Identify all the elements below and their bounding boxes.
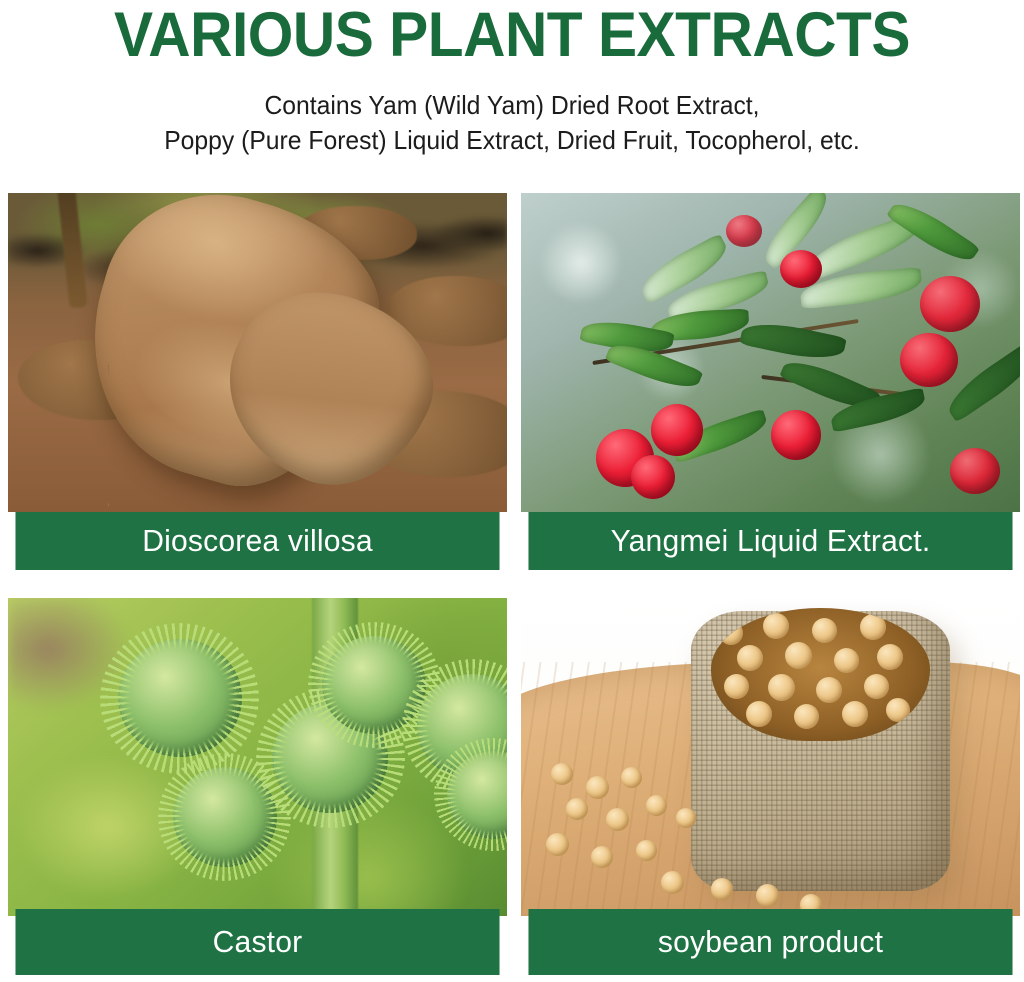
red-bayberry-branch-photo (521, 193, 1020, 512)
plant-extracts-infographic: VARIOUS PLANT EXTRACTS Contains Yam (Wil… (0, 0, 1024, 982)
soybean (719, 621, 743, 645)
spilled-soybean (676, 808, 696, 828)
soybean (785, 642, 812, 669)
spilled-soybean (606, 808, 629, 831)
spilled-soybean (756, 884, 779, 907)
plant-image-grid: Dioscorea villosa (8, 193, 1014, 982)
bayberry-fruit (920, 276, 980, 332)
soybean (763, 613, 789, 639)
root-hairs (108, 365, 318, 505)
soybean (724, 674, 749, 699)
plant-card-dioscorea[interactable]: Dioscorea villosa (8, 193, 507, 570)
plant-card-castor[interactable]: Castor (8, 598, 507, 975)
soybean (746, 701, 772, 727)
soybean (768, 674, 795, 701)
spilled-soybean (621, 767, 642, 788)
pod-spines (100, 623, 259, 774)
soybean-burlap-sack-photo (521, 598, 1020, 916)
soybean (864, 674, 889, 699)
card-caption: Dioscorea villosa (15, 512, 499, 570)
spilled-soybean (591, 846, 613, 868)
castor-bean-pods-photo (8, 598, 507, 916)
soybean (812, 618, 837, 643)
spilled-soybean (586, 776, 609, 799)
yam-root-in-soil-photo (8, 193, 507, 512)
bayberry-fruit (950, 448, 1000, 494)
spilled-soybean (636, 840, 657, 861)
bayberry-fruit (631, 455, 675, 499)
bayberry-fruit (771, 410, 821, 460)
header: VARIOUS PLANT EXTRACTS Contains Yam (Wil… (0, 0, 1024, 158)
spilled-soybean (646, 795, 667, 816)
card-caption: soybean product (528, 909, 1012, 975)
soybean (834, 648, 859, 673)
bayberry-fruit (651, 404, 703, 456)
subtitle: Contains Yam (Wild Yam) Dried Root Extra… (26, 88, 999, 158)
plant-card-soybean[interactable]: soybean product (521, 598, 1020, 975)
soybean (794, 704, 819, 729)
subtitle-line-1: Contains Yam (Wild Yam) Dried Root Extra… (26, 88, 999, 123)
card-caption: Castor (15, 909, 499, 975)
subtitle-line-2: Poppy (Pure Forest) Liquid Extract, Drie… (26, 123, 999, 158)
soybean (877, 644, 903, 670)
plant-card-yangmei[interactable]: Yangmei Liquid Extract. (521, 193, 1020, 570)
castor-pod (447, 751, 507, 839)
soybean (737, 645, 763, 671)
soybean (816, 677, 842, 703)
sack-opening (711, 608, 931, 742)
soybean (842, 701, 868, 727)
page-title: VARIOUS PLANT EXTRACTS (36, 2, 988, 68)
castor-pod (118, 639, 242, 757)
card-caption: Yangmei Liquid Extract. (528, 512, 1012, 570)
soybean (860, 614, 886, 640)
spilled-soybean (711, 878, 733, 900)
bayberry-fruit (726, 215, 762, 247)
